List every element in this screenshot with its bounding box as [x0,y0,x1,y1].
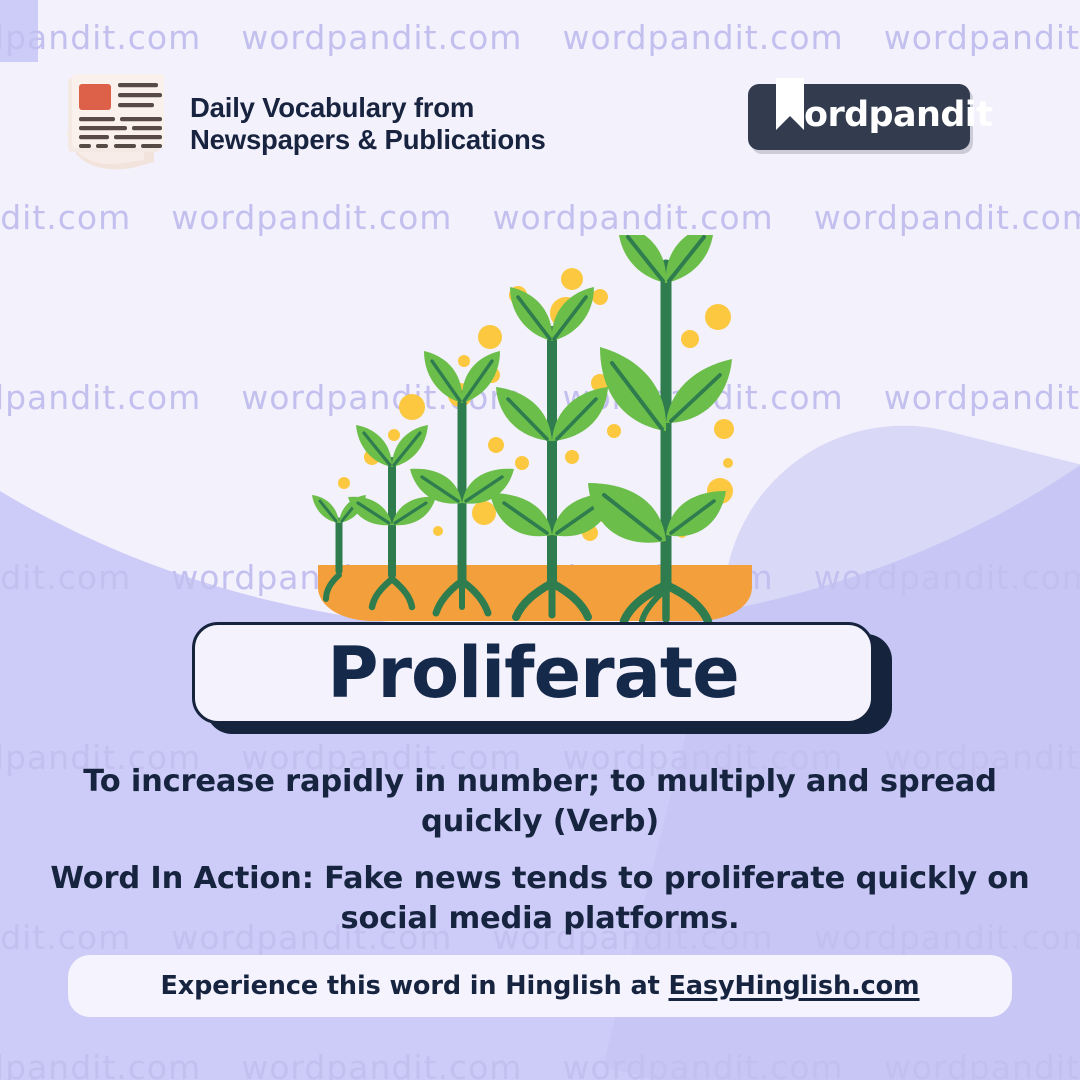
header-title-line-2: Newspapers & Publications [190,124,546,156]
footer-bar[interactable]: Experience this word in Hinglish at Easy… [68,955,1012,1017]
meaning-block: To increase rapidly in number; to multip… [34,762,1046,939]
growing-plants-illustration [300,235,770,630]
word-definition: To increase rapidly in number; to multip… [34,762,1046,843]
footer-text: Experience this word in Hinglish at Easy… [160,971,919,1001]
footer-prefix: Experience this word in Hinglish at [160,971,668,1001]
wordpandit-logo[interactable]: ordpandit [748,84,970,150]
header-title: Daily Vocabulary from Newspapers & Publi… [190,92,546,157]
easyhinglish-link[interactable]: EasyHinglish.com [669,971,920,1001]
newspaper-icon [58,72,176,172]
header-title-line-1: Daily Vocabulary from [190,92,474,123]
word-banner: Proliferate [192,622,892,734]
bookmark-w-icon [772,76,808,140]
vocabulary-card: wordpandit.comwordpandit.comwordpandit.c… [0,0,1080,1080]
logo-wordmark: ordpandit [804,95,992,135]
card-header: Daily Vocabulary from Newspapers & Publi… [0,0,1080,180]
word-in-action: Word In Action: Fake news tends to proli… [34,859,1046,940]
vocabulary-word: Proliferate [327,638,739,708]
word-banner-box: Proliferate [192,622,874,724]
